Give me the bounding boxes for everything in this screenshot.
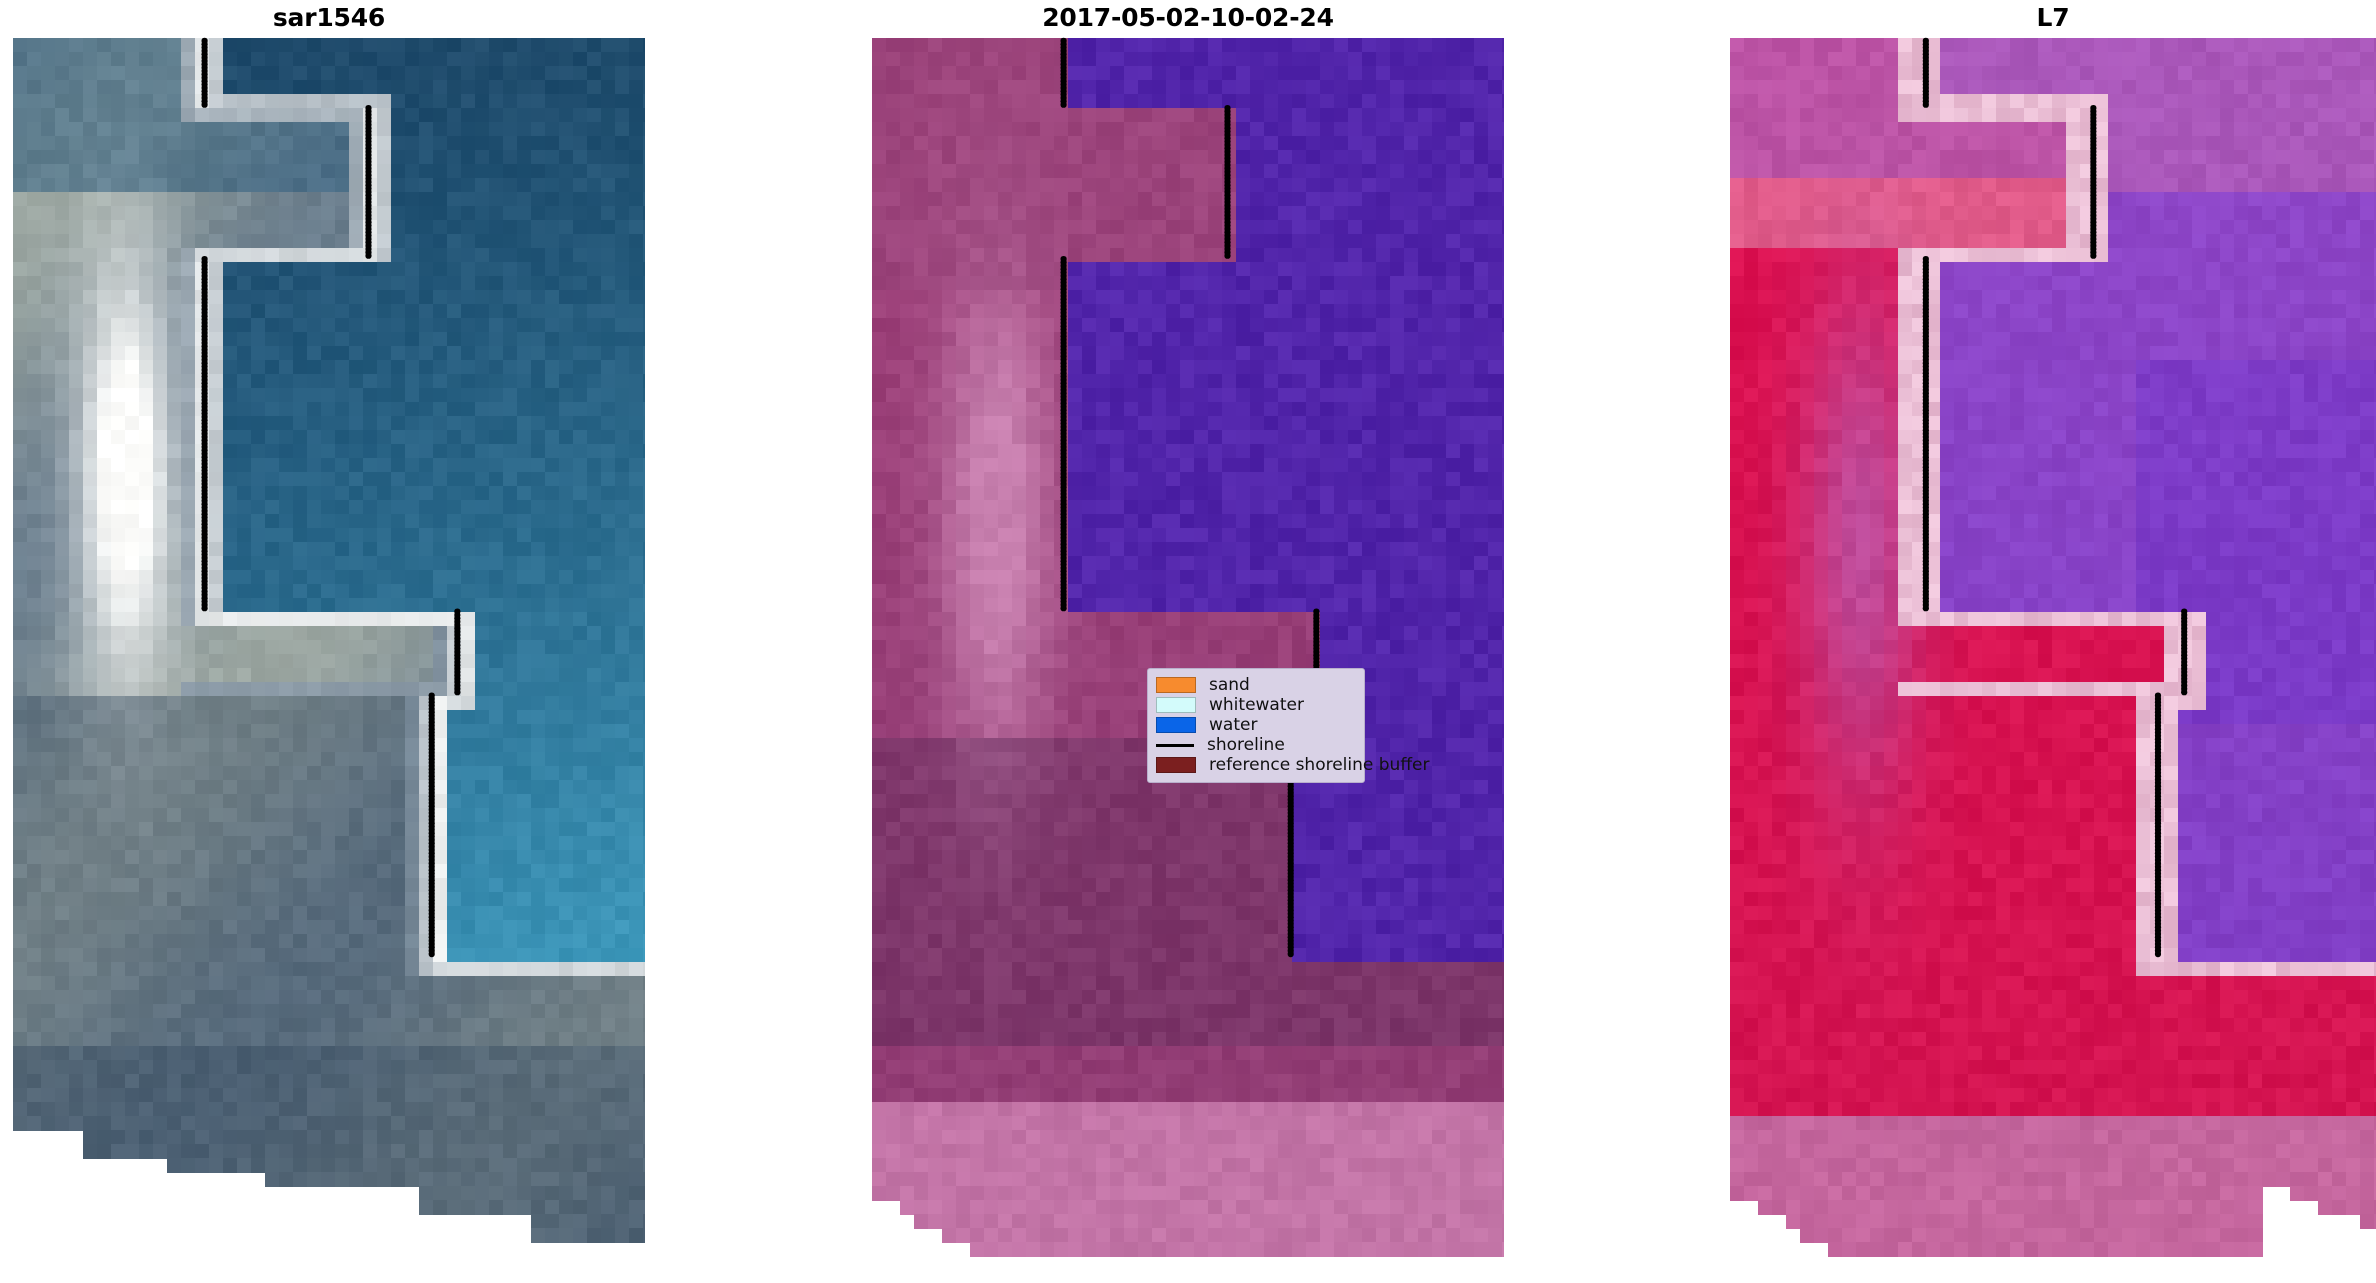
legend-label-reference-shoreline-buffer: reference shoreline buffer bbox=[1209, 755, 1430, 775]
axes-sar1546[interactable] bbox=[13, 36, 645, 1283]
panel-sar1546: sar1546 bbox=[13, 0, 645, 1283]
panel-l7: L7 bbox=[1730, 0, 2376, 1283]
legend-swatch-whitewater bbox=[1156, 697, 1196, 713]
legend-swatch-reference-shoreline-buffer bbox=[1156, 757, 1196, 773]
panel-title-classified: 2017-05-02-10-02-24 bbox=[872, 0, 1504, 36]
axes-l7[interactable] bbox=[1730, 36, 2376, 1283]
panel-classified: 2017-05-02-10-02-24 sand whitewater wate… bbox=[872, 0, 1504, 1283]
legend[interactable]: sand whitewater water shoreline referenc… bbox=[1147, 668, 1365, 783]
legend-item-sand[interactable]: sand bbox=[1156, 675, 1354, 695]
legend-label-sand: sand bbox=[1209, 675, 1250, 695]
legend-swatch-sand bbox=[1156, 677, 1196, 693]
legend-item-reference-shoreline-buffer[interactable]: reference shoreline buffer bbox=[1156, 755, 1354, 775]
image-sar1546[interactable] bbox=[13, 36, 645, 1283]
legend-label-shoreline: shoreline bbox=[1207, 735, 1285, 755]
image-l7[interactable] bbox=[1730, 36, 2376, 1283]
legend-swatch-shoreline bbox=[1156, 744, 1194, 747]
legend-label-water: water bbox=[1209, 715, 1257, 735]
figure-canvas: sar1546 2017-05-02-10-02-24 sand whitewa… bbox=[0, 0, 2376, 1283]
axes-classified[interactable] bbox=[872, 36, 1504, 1283]
legend-item-water[interactable]: water bbox=[1156, 715, 1354, 735]
legend-label-whitewater: whitewater bbox=[1209, 695, 1304, 715]
panel-title-l7: L7 bbox=[1730, 0, 2376, 36]
legend-item-whitewater[interactable]: whitewater bbox=[1156, 695, 1354, 715]
panel-title-sar1546: sar1546 bbox=[13, 0, 645, 36]
legend-swatch-water bbox=[1156, 717, 1196, 733]
legend-item-shoreline[interactable]: shoreline bbox=[1156, 735, 1354, 755]
image-classified[interactable] bbox=[872, 36, 1504, 1283]
